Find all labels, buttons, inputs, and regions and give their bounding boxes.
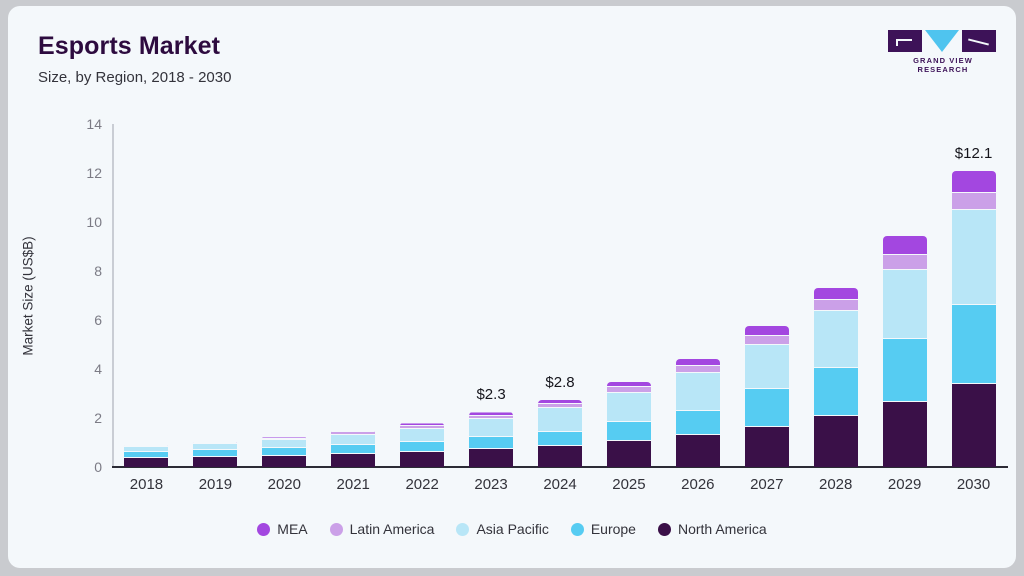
x-tick-2020: 2020: [268, 476, 301, 493]
bar-segment-europe[interactable]: [400, 442, 444, 452]
x-tick-2027: 2027: [750, 476, 783, 493]
bar-series-container: $2.3$2.8$12.1: [112, 124, 1008, 467]
bar-segment-north-america[interactable]: [538, 446, 582, 467]
bar-segment-asia-pacific[interactable]: [331, 435, 375, 445]
x-tick-2029: 2029: [888, 476, 921, 493]
bar-segment-north-america[interactable]: [262, 456, 306, 468]
bar-2018[interactable]: [124, 445, 168, 467]
bar-segment-europe[interactable]: [745, 389, 789, 427]
bar-2030[interactable]: $12.1: [952, 171, 996, 467]
y-tick-0: 0: [94, 459, 102, 475]
bar-2019[interactable]: [193, 442, 237, 467]
bar-segment-north-america[interactable]: [124, 458, 168, 467]
legend-swatch-icon: [658, 523, 671, 536]
legend-label: Latin America: [350, 521, 435, 537]
bar-segment-north-america[interactable]: [676, 435, 720, 467]
bar-segment-north-america[interactable]: [883, 402, 927, 467]
bar-segment-north-america[interactable]: [607, 441, 651, 467]
x-tick-2018: 2018: [130, 476, 163, 493]
bar-segment-asia-pacific[interactable]: [262, 440, 306, 448]
bar-segment-north-america[interactable]: [814, 416, 858, 467]
bar-segment-europe[interactable]: [538, 432, 582, 447]
bar-2022[interactable]: [400, 423, 444, 467]
bar-segment-north-america[interactable]: [193, 457, 237, 467]
bar-segment-asia-pacific[interactable]: [469, 419, 513, 437]
x-tick-2021: 2021: [337, 476, 370, 493]
bar-segment-north-america[interactable]: [331, 454, 375, 467]
bar-segment-europe[interactable]: [814, 368, 858, 416]
chart-card: Esports Market Size, by Region, 2018 - 2…: [8, 6, 1016, 568]
bar-segment-mea[interactable]: [676, 359, 720, 366]
y-tick-4: 4: [94, 361, 102, 377]
legend-swatch-icon: [330, 523, 343, 536]
legend-label: Europe: [591, 521, 636, 537]
grand-view-research-logo: GRAND VIEW RESEARCH: [888, 30, 998, 74]
page-title: Esports Market: [38, 32, 220, 61]
plot-area: 02468101214 Market Size (US$B) $2.3$2.8$…: [112, 124, 1008, 467]
bar-segment-north-america[interactable]: [745, 427, 789, 467]
bar-segment-latin-america[interactable]: [883, 255, 927, 270]
logo-triangle-v-icon: [925, 30, 959, 52]
y-tick-8: 8: [94, 263, 102, 279]
bar-segment-europe[interactable]: [262, 448, 306, 455]
y-tick-2: 2: [94, 410, 102, 426]
bar-2025[interactable]: [607, 382, 651, 467]
y-tick-10: 10: [86, 214, 102, 230]
y-axis-tick-labels: 02468101214: [66, 124, 102, 467]
bar-segment-asia-pacific[interactable]: [538, 408, 582, 431]
bar-value-label-2023: $2.3: [476, 386, 505, 403]
bar-segment-asia-pacific[interactable]: [814, 311, 858, 367]
legend-swatch-icon: [571, 523, 584, 536]
bar-segment-asia-pacific[interactable]: [607, 393, 651, 422]
logo-text: GRAND VIEW RESEARCH: [888, 56, 998, 74]
bar-segment-north-america[interactable]: [469, 449, 513, 467]
bar-segment-asia-pacific[interactable]: [676, 373, 720, 411]
bar-segment-europe[interactable]: [883, 339, 927, 402]
x-tick-2023: 2023: [474, 476, 507, 493]
x-tick-2022: 2022: [405, 476, 438, 493]
bar-segment-mea[interactable]: [883, 236, 927, 255]
bar-2026[interactable]: [676, 359, 720, 467]
bar-segment-asia-pacific[interactable]: [745, 345, 789, 389]
bar-segment-europe[interactable]: [607, 422, 651, 441]
bar-2023[interactable]: $2.3: [469, 412, 513, 467]
bar-segment-latin-america[interactable]: [952, 193, 996, 210]
logo-square-r-icon: [962, 30, 996, 52]
legend-swatch-icon: [257, 523, 270, 536]
x-tick-2024: 2024: [543, 476, 576, 493]
bar-segment-europe[interactable]: [952, 305, 996, 383]
bar-segment-north-america[interactable]: [400, 452, 444, 467]
bar-value-label-2030: $12.1: [955, 145, 993, 162]
y-tick-14: 14: [86, 116, 102, 132]
logo-square-g-icon: [888, 30, 922, 52]
legend-item-asia-pacific[interactable]: Asia Pacific: [456, 521, 548, 537]
bar-segment-mea[interactable]: [745, 326, 789, 336]
x-tick-2028: 2028: [819, 476, 852, 493]
bar-segment-europe[interactable]: [469, 437, 513, 449]
legend-label: Asia Pacific: [476, 521, 548, 537]
bar-2028[interactable]: [814, 288, 858, 467]
bar-segment-asia-pacific[interactable]: [952, 210, 996, 306]
legend-label: MEA: [277, 521, 307, 537]
legend-item-latin-america[interactable]: Latin America: [330, 521, 435, 537]
bar-2021[interactable]: [331, 431, 375, 467]
bar-segment-europe[interactable]: [676, 411, 720, 436]
x-tick-2030: 2030: [957, 476, 990, 493]
legend-label: North America: [678, 521, 767, 537]
legend-swatch-icon: [456, 523, 469, 536]
logo-marks: [888, 30, 998, 52]
x-axis-tick-labels: 2018201920202021202220232024202520262027…: [112, 476, 1008, 502]
bar-segment-mea[interactable]: [952, 171, 996, 193]
bar-2024[interactable]: $2.8: [538, 400, 582, 467]
x-tick-2026: 2026: [681, 476, 714, 493]
bar-segment-north-america[interactable]: [952, 384, 996, 467]
bar-segment-mea[interactable]: [814, 288, 858, 300]
page-subtitle: Size, by Region, 2018 - 2030: [38, 69, 231, 86]
bar-value-label-2024: $2.8: [545, 374, 574, 391]
bar-segment-latin-america[interactable]: [814, 300, 858, 311]
x-tick-2019: 2019: [199, 476, 232, 493]
y-tick-12: 12: [86, 165, 102, 181]
x-tick-2025: 2025: [612, 476, 645, 493]
bar-segment-latin-america[interactable]: [745, 336, 789, 345]
bar-2027[interactable]: [745, 326, 789, 467]
bar-2020[interactable]: [262, 437, 306, 467]
bar-segment-asia-pacific[interactable]: [883, 270, 927, 339]
legend-item-mea[interactable]: MEA: [257, 521, 307, 537]
bar-segment-europe[interactable]: [331, 445, 375, 454]
chart-legend: MEALatin AmericaAsia PacificEuropeNorth …: [8, 521, 1016, 537]
bar-segment-asia-pacific[interactable]: [400, 429, 444, 442]
legend-item-europe[interactable]: Europe: [571, 521, 636, 537]
y-axis-title: Market Size (US$B): [21, 236, 36, 355]
y-tick-6: 6: [94, 312, 102, 328]
bar-segment-latin-america[interactable]: [676, 366, 720, 373]
legend-item-north-america[interactable]: North America: [658, 521, 767, 537]
bar-2029[interactable]: [883, 236, 927, 467]
